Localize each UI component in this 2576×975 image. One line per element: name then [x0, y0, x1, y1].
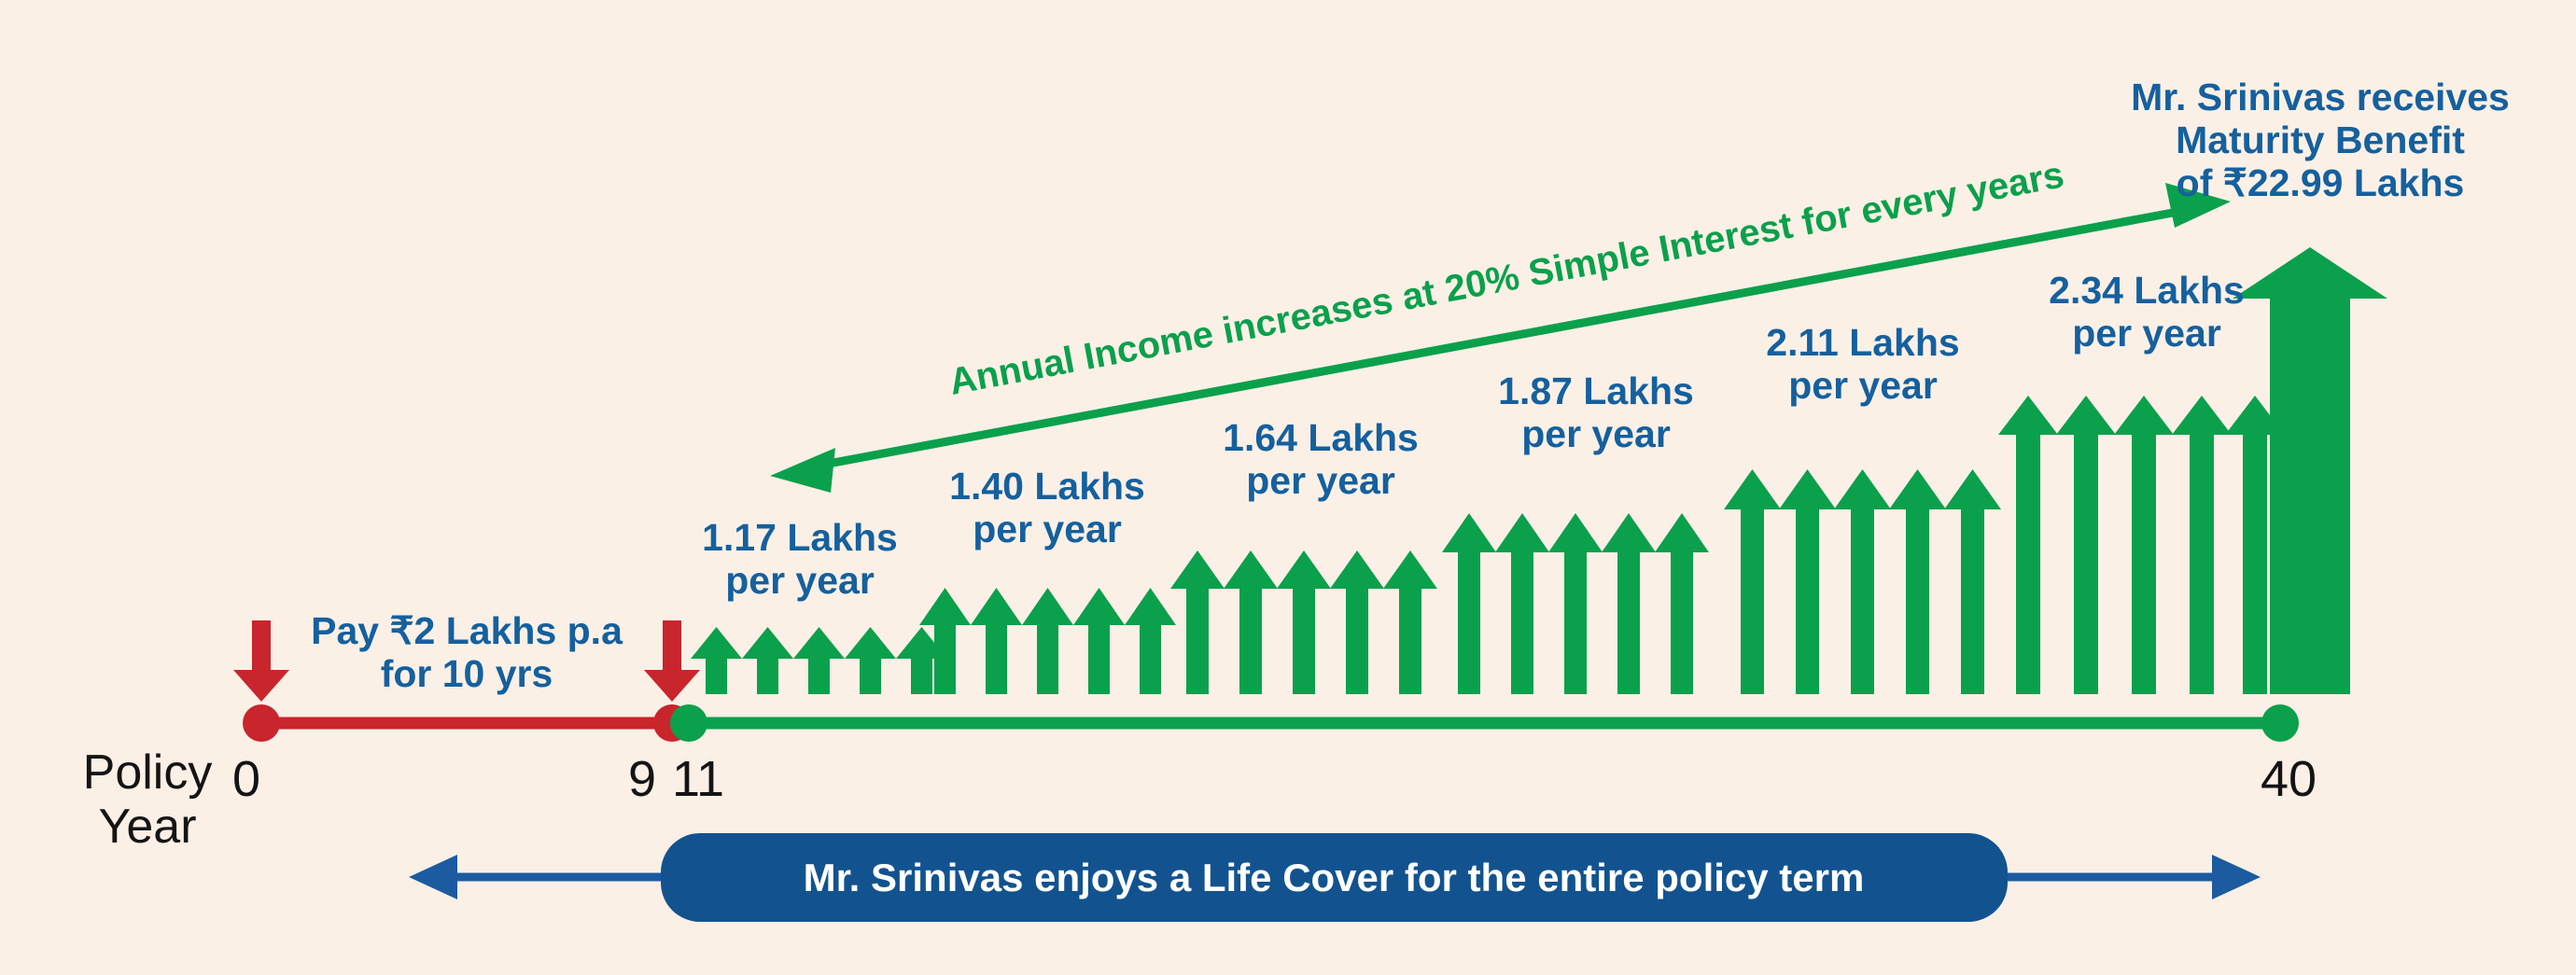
premium-label-line1: Pay ₹2 Lakhs p.a [311, 609, 623, 652]
premium-label-line2: for 10 yrs [381, 652, 553, 695]
income-label-2-value: 1.40 Lakhs [949, 465, 1145, 508]
tick-label-9: 9 [628, 751, 656, 807]
income-label-3-unit: per year [1246, 459, 1395, 502]
maturity-line-3: of ₹22.99 Lakhs [2177, 161, 2465, 204]
maturity-line-2: Maturity Benefit [2176, 118, 2465, 161]
income-label-2-unit: per year [973, 508, 1122, 550]
income-label-1-value: 1.17 Lakhs [702, 516, 898, 559]
income-label-4-value: 1.87 Lakhs [1498, 369, 1694, 412]
income-label-1-unit: per year [725, 559, 875, 602]
income-label-4-unit: per year [1521, 412, 1671, 455]
income-label-6-value: 2.34 Lakhs [2049, 269, 2245, 312]
income-label-5-unit: per year [1788, 364, 1938, 407]
life-cover-banner-text: Mr. Srinivas enjoys a Life Cover for the… [804, 856, 1865, 899]
axis-title-line2: Year [98, 800, 196, 854]
timeline-node-year-40 [2261, 704, 2299, 742]
income-label-6-unit: per year [2072, 312, 2221, 355]
timeline-node-year-0 [243, 704, 280, 742]
income-label-5-value: 2.11 Lakhs [1766, 321, 1959, 364]
diagram-canvas: Pay ₹2 Lakhs p.a for 10 yrs [0, 0, 2576, 975]
maturity-line-1: Mr. Srinivas receives [2131, 76, 2510, 118]
tick-label-40: 40 [2261, 751, 2317, 807]
policy-benefit-illustration: Pay ₹2 Lakhs p.a for 10 yrs [0, 0, 2576, 975]
tick-label-11: 11 [672, 751, 724, 807]
timeline-node-year-11 [670, 704, 707, 742]
axis-title-line1: Policy [83, 745, 213, 800]
maturity-benefit-label: Mr. Srinivas receives Maturity Benefit o… [2131, 76, 2510, 204]
life-cover-banner-group[interactable]: Mr. Srinivas enjoys a Life Cover for the… [409, 833, 2261, 922]
income-label-3-value: 1.64 Lakhs [1223, 416, 1419, 459]
tick-label-0: 0 [232, 751, 260, 807]
